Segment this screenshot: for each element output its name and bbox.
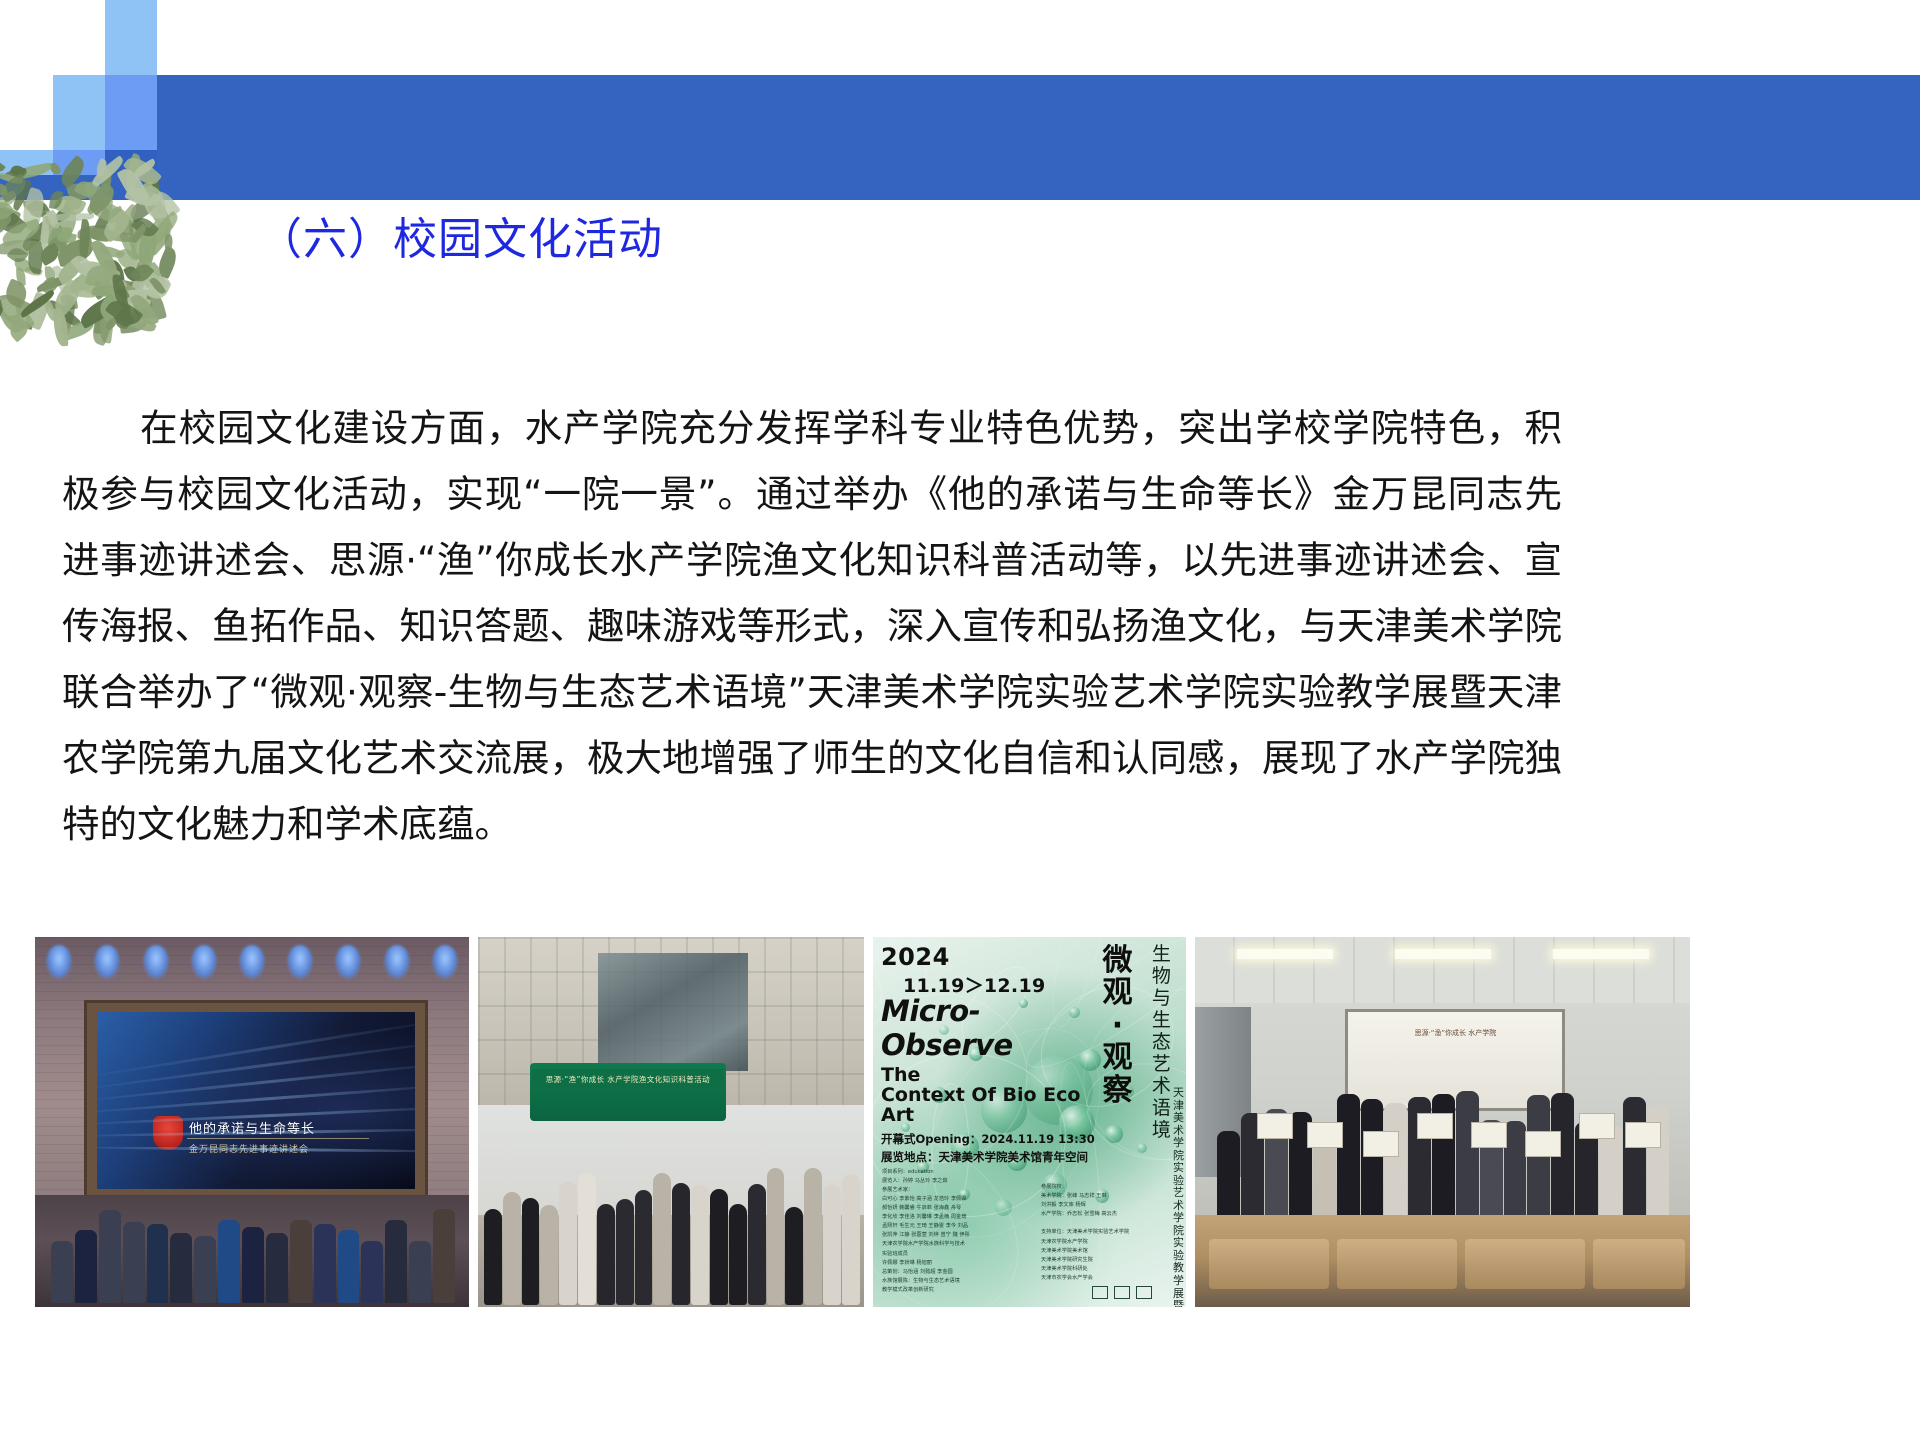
ceiling-lights [35,945,469,1001]
person-silhouette [51,1241,73,1303]
fish-rubbing-artwork [1307,1122,1343,1148]
person-silhouette [194,1236,216,1303]
person-silhouette [785,1207,803,1305]
building-glass-facade [598,953,748,1071]
ceiling-lamp-3 [1553,949,1649,959]
leaf-shape [129,220,151,262]
leaf-shape [124,293,151,313]
poster-fine-print-right: 参展院校： 美术学院：张峰 马志祥 王琳 刘洪毅 李文库 杨辉 水产学院：乔志松… [1041,1183,1161,1283]
ceiling-light [287,945,313,979]
leaf-shape [132,291,154,319]
leaf-shape [134,226,161,267]
leaf-shape [0,196,15,224]
person-silhouette [540,1205,558,1305]
leaf-shape [98,309,115,343]
ceiling-lamp-1 [1237,949,1333,959]
leaf-shape [0,293,8,324]
leaf-shape [75,283,102,299]
deco-block-dark-bottom [105,150,157,175]
leaf-shape [111,288,134,329]
leaf-shape [130,224,149,244]
leaf-shape [62,248,89,278]
person-silhouette [616,1199,634,1305]
leaf-shape [129,260,154,286]
leaf-shape [89,207,115,241]
person-silhouette [804,1168,822,1305]
leaf-shape [110,305,148,329]
classroom-ceiling [1195,937,1690,1003]
person-silhouette [1527,1095,1550,1221]
poster-subtitle-line1: The [881,1066,1109,1086]
person-silhouette [653,1173,671,1305]
poster-year: 2024 [881,943,950,971]
person-silhouette [1217,1131,1240,1221]
leaf-shape [42,214,54,230]
deco-block-light-bottom [0,150,53,175]
person-silhouette [842,1174,860,1305]
leaf-shape [114,307,156,335]
leaf-shape [70,251,98,281]
leaf-shape [24,265,43,279]
sponsor-logo-1 [1092,1286,1108,1299]
person-silhouette [361,1241,383,1303]
leaf-shape [39,214,52,249]
leaf-shape [77,256,121,289]
leaf-shape [110,204,140,236]
leaf-shape [23,292,53,331]
person-silhouette [1623,1097,1646,1221]
leaf-shape [37,242,62,266]
leaf-shape [25,239,46,275]
person-silhouette [559,1182,577,1305]
person-silhouette [710,1189,728,1305]
photo-strip: 他的承诺与生命等长 金万昆同志先进事迹讲述会 思源·“渔”你成长 水产学院渔文化… [35,937,1690,1307]
leaf-shape [24,305,36,330]
person-silhouette [597,1204,615,1305]
leaf-shape [42,210,60,228]
exhibition-poster: 2024 11.19＞12.19 Micro-Observe The Conte… [873,937,1186,1307]
leaf-shape [0,202,27,240]
poster-sponsor-logos [1092,1286,1152,1299]
projection-board-text: 思源·“渔”你成长 水产学院 [1348,1028,1562,1038]
leaf-shape [93,273,124,300]
leaf-shape [0,213,13,237]
person-silhouette [242,1227,264,1303]
person-silhouette [1337,1094,1360,1221]
ceiling-light [143,945,169,979]
leaf-shape [0,206,9,226]
leaf-shape [57,298,78,335]
leaf-shape [19,217,57,252]
person-silhouette [748,1184,766,1305]
ceiling-light [335,945,361,979]
leaf-shape [3,299,34,334]
person-silhouette [1551,1093,1574,1221]
fish-rubbing-artwork [1471,1122,1507,1148]
person-silhouette [433,1209,455,1303]
leaf-shape [21,299,47,326]
classroom-fish-rubbing-photo: 思源·“渔”你成长 水产学院 [1195,937,1690,1307]
leaf-shape [131,213,160,241]
fish-rubbing-artwork [1257,1113,1293,1139]
person-silhouette [75,1230,97,1303]
leaf-shape [52,264,74,302]
header-band-lower [0,175,1920,200]
leaf-shape [92,284,128,299]
leaf-shape [0,218,10,237]
leaf-shape [85,262,115,289]
person-silhouette [691,1185,709,1305]
leaf-shape [6,245,28,267]
person-silhouette [99,1210,121,1303]
leaf-shape [115,212,135,237]
leaf-shape [45,209,60,230]
person-silhouette [1384,1103,1407,1221]
screen-divider [187,1138,369,1139]
poster-fine-print-left: 项目系列：education 展览人：孙婷 马丛玲 李之茹 参展艺术家： 白可心… [882,1168,1032,1295]
leaf-shape [147,211,182,246]
page-title: （六）校园文化活动 [258,212,663,267]
leaf-shape [149,275,166,295]
leaf-shape [77,224,109,239]
fish-rubbing-artwork [1625,1122,1661,1148]
person-silhouette [314,1224,336,1303]
leaf-shape [104,293,135,331]
person-silhouette [338,1230,360,1303]
person-silhouette [266,1233,288,1303]
group-of-attendees [51,1199,455,1303]
leaf-shape [1,278,30,309]
leaf-shape [45,266,56,282]
leaf-shape [129,291,160,329]
leaf-shape [39,228,71,244]
leaf-shape [0,284,3,306]
person-silhouette [767,1168,785,1305]
person-silhouette [1361,1099,1384,1221]
leaf-shape [123,263,142,284]
leaf-shape [46,297,81,331]
leaf-shape [102,277,143,313]
leaf-shape [0,289,33,324]
leaf-shape [164,234,174,252]
leaf-shape [57,230,77,245]
leaf-shape [104,259,125,290]
person-silhouette [729,1204,747,1305]
deco-block-mid-bottom [53,150,105,175]
header-band-upper [157,75,1920,175]
leaf-shape [99,209,134,242]
person-silhouette [409,1241,431,1303]
leaf-shape [18,289,57,318]
leaf-shape [60,318,95,341]
person-silhouette [123,1222,145,1303]
leaf-shape [0,200,21,231]
fish-rubbing-artwork [1363,1131,1399,1157]
leaf-shape [93,264,121,301]
leaf-shape [90,237,117,275]
deco-block-light-left [53,75,105,150]
leaf-shape [95,227,138,246]
leaf-shape [129,259,152,294]
leaf-shape [54,257,85,285]
leaf-shape [145,275,171,302]
person-silhouette [1456,1091,1479,1221]
leaf-shape [131,267,170,300]
leaf-shape [6,316,32,342]
person-silhouette [147,1224,169,1303]
person-silhouette [1599,1125,1622,1221]
body-paragraph: 在校园文化建设方面，水产学院充分发挥学科专业特色优势，突出学校学院特色，积极参与… [62,395,1562,857]
leaf-shape [104,317,118,331]
leaf-shape [99,312,123,326]
sponsor-logo-3 [1136,1286,1152,1299]
leaf-shape [119,231,140,263]
leaf-shape [93,312,108,334]
leaf-shape [76,294,120,329]
ceiling-light [239,945,265,979]
leaf-shape [43,298,57,322]
desk-segment-1 [1209,1239,1329,1289]
leaf-shape [146,271,167,292]
leaf-shape [119,315,147,333]
person-silhouette [635,1190,653,1305]
person-silhouette [218,1220,240,1303]
desk-segment-3 [1465,1239,1585,1289]
deco-block-mid-center [105,75,157,150]
leaf-shape [93,274,136,301]
person-silhouette [484,1209,502,1305]
poster-text-block: 2024 11.19＞12.19 Micro-Observe The Conte… [881,943,1109,1165]
poster-title-chinese: 微观·观察 [1100,945,1134,1107]
leaf-shape [94,199,125,227]
leaf-shape [48,278,85,317]
leaf-shape [53,207,73,224]
person-silhouette [522,1198,540,1305]
student-group [484,1105,860,1305]
leaf-shape [105,205,126,224]
leaf-shape [137,262,164,289]
leaf-shape [53,309,69,347]
ceiling-light [46,945,72,979]
poster-venue-info: 展览地点：天津美术学院美术馆青年空间 [881,1149,1109,1165]
fish-rubbing-artwork [1579,1113,1615,1139]
led-screen-frame: 他的承诺与生命等长 金万昆同志先进事迹讲述会 [87,1003,425,1197]
person-silhouette [672,1183,690,1305]
sponsor-logo-2 [1114,1286,1130,1299]
leaf-shape [0,304,25,336]
led-screen: 他的承诺与生命等长 金万昆同志先进事迹讲述会 [97,1012,415,1189]
poster-subtitle-line2: Context Of Bio Eco Art [881,1086,1109,1126]
leaf-shape [45,204,83,248]
leaf-shape [112,273,129,309]
leaf-shape [16,268,26,286]
leaf-shape [112,279,130,308]
desk-segment-2 [1337,1239,1457,1289]
ceiling-light [191,945,217,979]
person-silhouette [290,1220,312,1303]
leaf-shape [52,212,94,221]
person-silhouette [578,1173,596,1305]
leaf-shape [78,274,101,294]
leaf-shape [1,297,17,317]
leaf-shape [23,199,45,214]
person-silhouette [385,1220,407,1303]
micro-observe-poster-photo: 2024 11.19＞12.19 Micro-Observe The Conte… [873,937,1186,1307]
leaf-shape [154,245,180,279]
leaf-shape [0,239,40,256]
leaf-shape [47,233,69,255]
leaf-shape [39,274,60,297]
poster-title-english: Micro-Observe [881,994,1109,1062]
poster-opening-info: 开幕式Opening：2024.11.19 13:30 [881,1131,1109,1147]
leaf-shape [0,304,20,329]
ceiling-light [94,945,120,979]
outdoor-group-photo: 思源·“渔”你成长 水产学院渔文化知识科普活动 [478,937,864,1307]
leaf-shape [54,237,96,268]
poster-credits-chinese: 天津美术学院实验艺术学院实验教学展暨天津农学院第九届文化艺术交流展 [1168,1087,1186,1307]
event-banner: 思源·“渔”你成长 水产学院渔文化知识科普活动 [532,1069,724,1089]
leaf-shape [36,274,72,292]
leaf-shape [96,291,128,322]
leaf-shape [104,295,143,330]
leaf-shape [68,269,102,294]
leaf-shape [15,258,31,271]
leaf-shape [44,223,66,250]
leaf-shape [131,219,168,258]
leaf-shape [115,246,140,273]
ceiling-light [384,945,410,979]
leaf-shape [77,219,92,259]
leaf-shape [147,227,175,257]
leaf-shape [140,287,167,322]
ceiling-lamp-2 [1395,949,1491,959]
fish-rubbing-artwork [1417,1113,1453,1139]
leaf-shape [88,306,117,346]
ceiling-light [432,945,458,979]
person-silhouette [170,1233,192,1303]
leaf-shape [116,290,147,307]
leaf-shape [0,218,43,248]
person-silhouette [823,1185,841,1305]
leaf-shape [99,242,126,260]
leaf-shape [85,224,116,245]
leaf-shape [104,275,139,307]
leaf-shape [61,294,79,311]
person-silhouette [503,1192,521,1305]
lecture-hall-photo: 他的承诺与生命等长 金万昆同志先进事迹讲述会 [35,937,469,1307]
deco-block-light-top [105,0,157,75]
desk-segment-4 [1593,1239,1685,1289]
slide-canvas: （六）校园文化活动 在校园文化建设方面，水产学院充分发挥学科专业特色优势，突出学… [0,0,1920,1440]
fish-rubbing-artwork [1525,1131,1561,1157]
